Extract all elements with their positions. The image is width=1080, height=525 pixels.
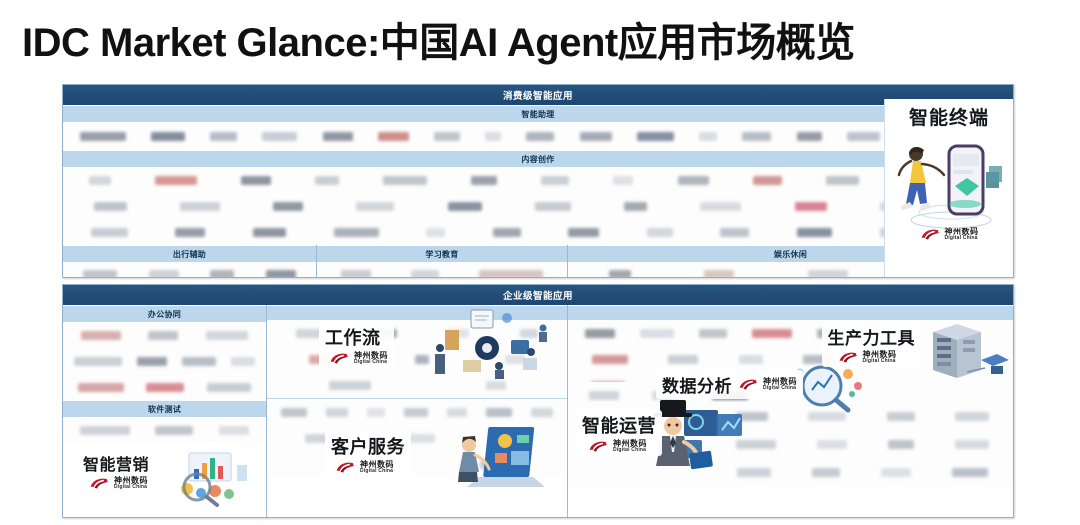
logo-row: [568, 458, 1013, 486]
vendor-logo: [887, 412, 915, 421]
vendor-logo: [817, 440, 847, 449]
enterprise-feature-customer-service: 客户服务 神州数码 Digital China: [325, 431, 411, 477]
vendor-logo: [210, 132, 237, 141]
consumer-column-travel: 出行辅助: [63, 245, 316, 278]
consumer-feature-smart-terminal: 智能终端: [884, 99, 1013, 277]
logo-row: [267, 346, 567, 372]
vendor-logo: [155, 176, 197, 185]
vendor-logo: [231, 357, 255, 366]
vendor-logo: [94, 202, 127, 211]
vendor-logo: [148, 331, 178, 340]
vendor-logo: [448, 202, 482, 211]
logo-row: [63, 348, 266, 374]
enterprise-feature-productivity-tools: 生产力工具 神州数码 Digital China: [822, 322, 922, 367]
logo-row: [63, 167, 1013, 193]
vendor-logo: [80, 426, 130, 435]
feature-label: 客户服务: [331, 433, 405, 459]
consumer-column-group: 出行辅助 学习教育: [63, 245, 1013, 278]
vendor-logo: [273, 202, 303, 211]
feature-label: 工作流: [325, 324, 381, 350]
logo-row: [63, 322, 266, 348]
consumer-feature-label: 智能终端: [909, 103, 989, 130]
vendor-logo: [341, 270, 371, 279]
vendor-logo: [219, 426, 249, 435]
vendor-logo: [847, 132, 880, 141]
vendor-logo: [155, 426, 193, 435]
vendor-logo: [520, 329, 538, 338]
vendor-logo: [367, 408, 385, 417]
vendor-logo: [797, 228, 832, 237]
vendor-logo: [592, 355, 628, 364]
digital-china-wordmark: 神州数码 Digital China: [360, 461, 394, 474]
digital-china-wordmark: 神州数码 Digital China: [354, 352, 388, 365]
vendor-logo: [624, 202, 647, 211]
brand-name-en: Digital China: [354, 360, 388, 365]
logo-row: [63, 122, 1013, 150]
vendor-logo: [356, 202, 394, 211]
consumer-column-label-education: 学习教育: [317, 245, 567, 262]
vendor-logo: [526, 132, 554, 141]
vendor-logo: [812, 468, 840, 477]
vendor-logo: [151, 132, 185, 141]
vendor-logo: [329, 381, 371, 390]
vendor-logo: [479, 270, 543, 279]
digital-china-logo: 神州数码 Digital China: [738, 377, 797, 392]
logo-row: [317, 262, 567, 278]
digital-china-wordmark: 神州数码 Digital China: [613, 440, 647, 453]
digital-china-wordmark: 神州数码 Digital China: [945, 228, 979, 241]
consumer-column-education: 学习教育: [316, 245, 567, 278]
logo-row: [63, 219, 1013, 245]
vendor-logo: [493, 228, 521, 237]
digital-china-logo: 神州数码 Digital China: [89, 476, 148, 491]
consumer-panel: 消费级智能应用 智能助理 内容创作: [62, 84, 1014, 278]
vendor-logo: [471, 176, 497, 185]
vendor-logo: [182, 357, 216, 366]
enterprise-label-software-testing: 软件测试: [63, 400, 266, 417]
vendor-logo: [334, 228, 379, 237]
vendor-logo: [955, 412, 989, 421]
vendor-logo: [262, 132, 297, 141]
logo-row: [568, 320, 1013, 346]
logo-row: [267, 451, 567, 477]
vendor-logo: [704, 270, 734, 279]
digital-china-wordmark: 神州数码 Digital China: [863, 351, 897, 364]
vendor-logo: [637, 132, 674, 141]
feature-label: 数据分析: [662, 372, 732, 397]
vendor-logo: [486, 408, 512, 417]
vendor-logo: [720, 228, 749, 237]
vendor-logo: [589, 391, 619, 400]
vendor-logo: [580, 132, 612, 141]
vendor-logo: [678, 176, 709, 185]
vendor-logo: [81, 331, 121, 340]
vendor-logo: [315, 176, 339, 185]
enterprise-feature-workflow: 工作流 神州数码 Digital China: [319, 322, 394, 368]
charts-magnifier-illustration: [167, 447, 259, 507]
logo-row: [63, 193, 1013, 219]
vendor-logo: [411, 270, 439, 279]
digital-china-swoosh-icon: [920, 227, 942, 242]
vendor-logo: [426, 228, 445, 237]
market-glance-board: 消费级智能应用 智能助理 内容创作: [62, 84, 1014, 524]
vendor-logo: [736, 440, 776, 449]
person-with-smartphone-illustration: [889, 128, 1009, 233]
vendor-logo: [739, 355, 763, 364]
vendor-logo: [74, 357, 122, 366]
vendor-logo: [415, 355, 429, 364]
vendor-logo: [83, 270, 117, 279]
vendor-logo: [210, 270, 234, 279]
digital-china-logo: 神州数码 Digital China: [335, 460, 394, 475]
enterprise-feature-data-analysis: 数据分析 神州数码 Digital China: [656, 370, 803, 399]
enterprise-label-blank-top-right: [568, 305, 1013, 320]
vendor-logo: [826, 176, 859, 185]
vendor-logo: [326, 408, 348, 417]
digital-china-logo: 神州数码 Digital China: [588, 439, 647, 454]
vendor-logo: [742, 132, 771, 141]
vendor-logo: [80, 132, 126, 141]
vendor-logo: [737, 468, 771, 477]
vendor-logo: [486, 381, 506, 390]
vendor-logo: [640, 329, 674, 338]
vendor-logo: [323, 132, 353, 141]
vendor-logo: [797, 132, 822, 141]
vendor-logo: [434, 132, 460, 141]
digital-china-logo: 神州数码 Digital China: [920, 227, 979, 242]
vendor-logo: [149, 270, 179, 279]
vendor-logo: [700, 202, 741, 211]
vendor-logo: [503, 434, 529, 443]
vendor-logo: [207, 383, 251, 392]
vendor-logo: [609, 270, 631, 279]
brand-name-en: Digital China: [863, 359, 897, 364]
page-title: IDC Market Glance:中国AI Agent应用市场概览: [22, 10, 855, 68]
consumer-row-label-smart-assistant: 智能助理: [63, 105, 1013, 122]
vendor-logo: [541, 176, 569, 185]
feature-label: 生产力工具: [828, 324, 916, 349]
enterprise-column-right: 生产力工具 神州数码 Digital China: [567, 305, 1013, 518]
vendor-logo: [485, 132, 501, 141]
digital-china-logo: 神州数码 Digital China: [838, 350, 897, 365]
vendor-logo: [699, 132, 717, 141]
vendor-logo: [137, 357, 167, 366]
digital-china-swoosh-icon: [329, 351, 351, 366]
enterprise-column-middle: 工作流 神州数码 Digital China: [266, 305, 567, 518]
logo-row: [63, 262, 316, 278]
vendor-logo: [480, 460, 504, 469]
logo-row: [63, 417, 266, 443]
vendor-logo: [613, 176, 633, 185]
vendor-logo: [447, 329, 469, 338]
vendor-logo: [955, 440, 989, 449]
vendor-logo: [404, 408, 428, 417]
brand-name-en: Digital China: [763, 386, 797, 391]
vendor-logo: [89, 176, 111, 185]
digital-china-wordmark: 神州数码 Digital China: [114, 477, 148, 490]
enterprise-column-group: 办公协同 软件测试: [63, 305, 1013, 518]
vendor-logo: [146, 383, 184, 392]
brand-name-en: Digital China: [945, 236, 979, 241]
digital-china-swoosh-icon: [335, 460, 357, 475]
logo-row: [568, 346, 1013, 372]
vendor-logo: [505, 355, 525, 364]
digital-china-swoosh-icon: [588, 439, 610, 454]
brand-name-en: Digital China: [360, 469, 394, 474]
logo-row: [63, 374, 266, 400]
vendor-logo: [736, 412, 768, 421]
vendor-logo: [795, 202, 827, 211]
vendor-logo: [180, 202, 220, 211]
vendor-logo: [281, 408, 307, 417]
vendor-logo: [206, 331, 248, 340]
enterprise-column-left: 办公协同 软件测试: [63, 305, 266, 518]
feature-label: 智能运营: [582, 412, 656, 438]
logo-row: [267, 399, 567, 425]
logo-row: [267, 320, 567, 346]
digital-china-swoosh-icon: [838, 350, 860, 365]
digital-china-swoosh-icon: [738, 377, 760, 392]
vendor-logo: [78, 383, 124, 392]
vendor-logo: [808, 412, 846, 421]
consumer-section-header: 消费级智能应用: [63, 85, 1013, 105]
vendor-logo: [266, 270, 296, 279]
vendor-logo: [378, 132, 409, 141]
vendor-logo: [175, 228, 205, 237]
vendor-logo: [531, 408, 553, 417]
vendor-logo: [535, 202, 571, 211]
brand-name-en: Digital China: [114, 485, 148, 490]
vendor-logo: [91, 228, 128, 237]
enterprise-feature-smart-marketing: 智能营销 神州数码 Digital China: [77, 449, 155, 493]
digital-china-wordmark: 神州数码 Digital China: [763, 378, 797, 391]
feature-label: 智能营销: [83, 451, 149, 475]
vendor-logo: [699, 329, 727, 338]
vendor-logo: [753, 176, 782, 185]
vendor-logo: [253, 228, 286, 237]
brand-name-en: Digital China: [613, 448, 647, 453]
vendor-logo: [568, 228, 599, 237]
enterprise-label-office-collab: 办公协同: [63, 305, 266, 322]
enterprise-feature-smart-operations: 智能运营 神州数码 Digital China: [576, 410, 662, 456]
vendor-logo: [752, 329, 792, 338]
enterprise-panel: 企业级智能应用 办公协同: [62, 284, 1014, 518]
vendor-logo: [647, 228, 673, 237]
logo-row: [267, 372, 567, 398]
logo-row: [267, 425, 567, 451]
vendor-logo: [952, 468, 988, 477]
vendor-logo: [585, 329, 615, 338]
vendor-logo: [241, 176, 271, 185]
vendor-logo: [881, 468, 911, 477]
enterprise-section-header: 企业级智能应用: [63, 285, 1013, 305]
enterprise-label-blank-top-middle: [267, 305, 567, 320]
vendor-logo: [808, 270, 848, 279]
vendor-logo: [383, 176, 427, 185]
vendor-logo: [447, 408, 467, 417]
vendor-logo: [668, 355, 698, 364]
digital-china-logo: 神州数码 Digital China: [329, 351, 388, 366]
vendor-logo: [888, 440, 914, 449]
consumer-row-label-content-creation: 内容创作: [63, 150, 1013, 167]
consumer-column-label-travel: 出行辅助: [63, 245, 316, 262]
digital-china-swoosh-icon: [89, 476, 111, 491]
